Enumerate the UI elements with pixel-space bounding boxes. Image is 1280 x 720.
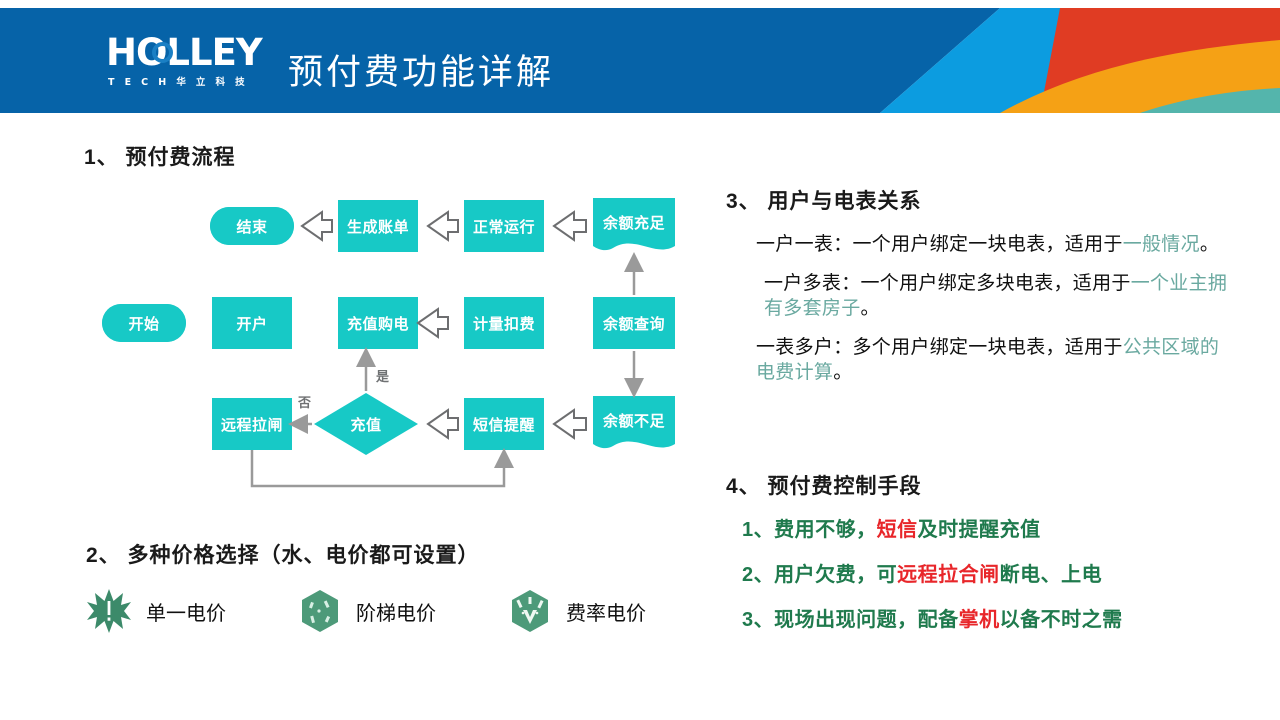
control-text-pre: 2、用户欠费，可 — [742, 564, 897, 586]
relation-text-black: 一户多表：一个用户绑定多块电表，适用于 — [764, 273, 1131, 294]
flow-node-gen-bill[interactable]: 生成账单 — [338, 200, 418, 252]
logo-ring-icon — [152, 42, 173, 63]
flow-node-meter-deduct[interactable]: 计量扣费 — [464, 297, 544, 349]
section-4-heading: 4、 预付费控制手段 — [726, 470, 922, 500]
relation-item-one-to-many: 一户多表：一个用户绑定多块电表，适用于一个业主拥有多套房子。 — [756, 271, 1236, 321]
price-option-single[interactable]: 单一电价 — [86, 588, 226, 634]
user-meter-relations: 一户一表：一个用户绑定一块电表，适用于一般情况。 一户多表：一个用户绑定多块电表… — [756, 232, 1236, 399]
logo-wordmark: HOLLEY — [106, 34, 262, 72]
relation-text-period: 。 — [861, 298, 880, 319]
control-text-highlight: 远程拉合闸 — [897, 564, 1000, 586]
flow-node-end[interactable]: 结束 — [210, 207, 294, 245]
relation-text-teal: 一般情况 — [1123, 234, 1200, 255]
control-measures-list: 1、费用不够，短信及时提醒充值 2、用户欠费，可远程拉合闸断电、上电 3、现场出… — [742, 519, 1242, 654]
starburst-icon — [86, 588, 132, 634]
relation-item-many-to-one: 一表多户：多个用户绑定一块电表，适用于公共区域的电费计算。 — [756, 335, 1236, 385]
section-1-heading: 1、 预付费流程 — [84, 141, 236, 171]
flow-node-open-account[interactable]: 开户 — [212, 297, 292, 349]
hexagon-rate-icon — [508, 588, 552, 634]
flow-node-remote-cut[interactable]: 远程拉闸 — [212, 398, 292, 450]
control-item-remote-switch: 2、用户欠费，可远程拉合闸断电、上电 — [742, 564, 1242, 587]
control-text-highlight: 掌机 — [959, 609, 1000, 631]
control-text-pre: 1、费用不够， — [742, 519, 877, 541]
section-3-heading: 3、 用户与电表关系 — [726, 185, 922, 215]
flow-node-sms-remind[interactable]: 短信提醒 — [464, 398, 544, 450]
control-text-highlight: 短信 — [877, 519, 918, 541]
price-option-rate[interactable]: 费率电价 — [508, 588, 646, 634]
relation-text-period: 。 — [833, 362, 852, 383]
flow-connectors — [252, 262, 634, 486]
relation-text-period: 。 — [1200, 234, 1219, 255]
section-2-heading: 2、 多种价格选择（水、电价都可设置） — [86, 539, 480, 569]
hexagon-stairs-icon — [298, 588, 342, 634]
price-option-label: 费率电价 — [566, 597, 646, 626]
price-option-label: 单一电价 — [146, 597, 226, 626]
flow-node-recharge-buy[interactable]: 充值购电 — [338, 297, 418, 349]
control-text-post: 以备不时之需 — [1000, 609, 1123, 631]
page-title: 预付费功能详解 — [288, 44, 554, 95]
flow-node-balance-ok[interactable]: 余额充足 — [593, 198, 675, 246]
flow-node-balance-low[interactable]: 余额不足 — [593, 396, 675, 444]
flow-node-recharge[interactable]: 充值 — [334, 411, 398, 437]
price-option-tiered[interactable]: 阶梯电价 — [298, 588, 436, 634]
control-item-sms: 1、费用不够，短信及时提醒充值 — [742, 519, 1242, 542]
relation-text-black: 一表多户：多个用户绑定一块电表，适用于 — [756, 337, 1123, 358]
flow-node-normal-run[interactable]: 正常运行 — [464, 200, 544, 252]
prepaid-flowchart: 结束 生成账单 正常运行 余额充足 开始 开户 充值购电 计量扣费 余额查询 远… — [80, 180, 700, 500]
page-header: HOLLEY T E C H 华 立 科 技 预付费功能详解 — [0, 8, 1280, 113]
control-text-post: 断电、上电 — [1000, 564, 1103, 586]
relation-text-black: 一户一表：一个用户绑定一块电表，适用于 — [756, 234, 1123, 255]
flow-label-yes: 是 — [376, 366, 389, 385]
flow-node-balance-query[interactable]: 余额查询 — [593, 297, 675, 349]
logo-tagline: T E C H 华 立 科 技 — [108, 74, 248, 88]
flow-node-start[interactable]: 开始 — [102, 304, 186, 342]
holley-logo: HOLLEY T E C H 华 立 科 技 — [106, 34, 256, 92]
flow-label-no: 否 — [298, 392, 311, 411]
price-options-row: 单一电价 阶梯电价 费率电价 — [86, 588, 646, 634]
price-option-label: 阶梯电价 — [356, 597, 436, 626]
control-item-handheld: 3、现场出现问题，配备掌机以备不时之需 — [742, 609, 1242, 632]
control-text-post: 及时提醒充值 — [918, 519, 1041, 541]
relation-item-one-to-one: 一户一表：一个用户绑定一块电表，适用于一般情况。 — [756, 232, 1236, 257]
control-text-pre: 3、现场出现问题，配备 — [742, 609, 959, 631]
